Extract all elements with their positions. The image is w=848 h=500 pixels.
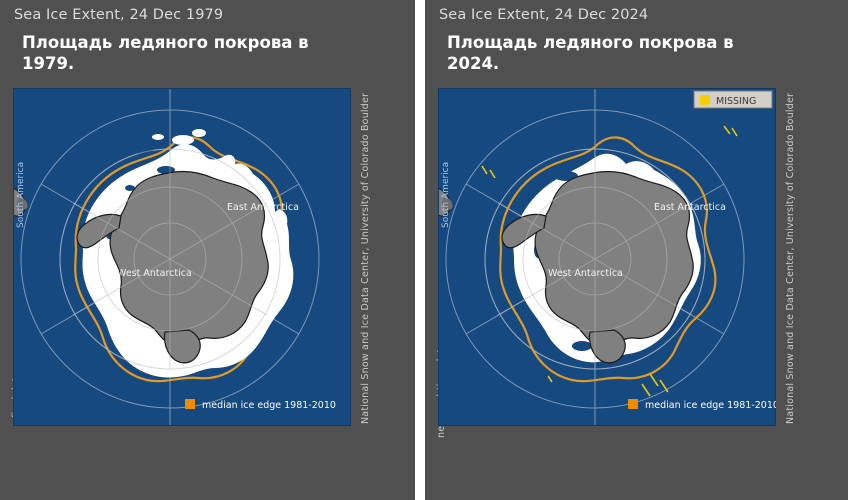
label-south-america: South America [441,162,451,228]
legend-median-ice-edge: median ice edge 1981-2010 [628,399,776,411]
legend-swatch [628,399,638,409]
panel-caption: Sea Ice Extent, 24 Dec 1979 [14,7,223,23]
label-south-america: South America [16,162,26,228]
label-east-antarctica: East Antarctica [654,202,726,213]
sea-ice-map-2024: East Antarctica West Antarctica South Am… [438,88,776,426]
credit-label: National Snow and Ice Data Center, Unive… [785,93,796,424]
page-title: Площадь ледяного покрова в 2024. [447,33,777,75]
missing-badge-label: MISSING [716,96,756,107]
legend-label: median ice edge 1981-2010 [202,400,336,411]
polar-map-svg: East Antarctica West Antarctica South Am… [438,88,776,426]
legend-median-ice-edge: median ice edge 1981-2010 [185,399,336,411]
panel-2024: Sea Ice Extent, 24 Dec 2024 Площадь ледя… [425,0,848,500]
page-title: Площадь ледяного покрова в 1979. [22,33,352,75]
label-west-antarctica: West Antarctica [548,268,623,279]
legend-swatch [185,399,195,409]
missing-badge-swatch [700,95,710,105]
credit-label: National Snow and Ice Data Center, Unive… [360,93,371,424]
legend-label: median ice edge 1981-2010 [645,400,776,411]
polar-map-svg: East Antarctica West Antarctica South Am… [13,88,351,426]
panel-1979: Sea Ice Extent, 24 Dec 1979 Площадь ледя… [0,0,415,500]
panel-divider [415,0,425,500]
label-east-antarctica: East Antarctica [227,202,299,213]
sea-ice-map-1979: East Antarctica West Antarctica South Am… [13,88,351,426]
panel-caption: Sea Ice Extent, 24 Dec 2024 [439,7,648,23]
label-west-antarctica: West Antarctica [117,268,192,279]
comparison-figure: Sea Ice Extent, 24 Dec 1979 Площадь ледя… [0,0,848,500]
missing-badge: MISSING [694,91,772,108]
